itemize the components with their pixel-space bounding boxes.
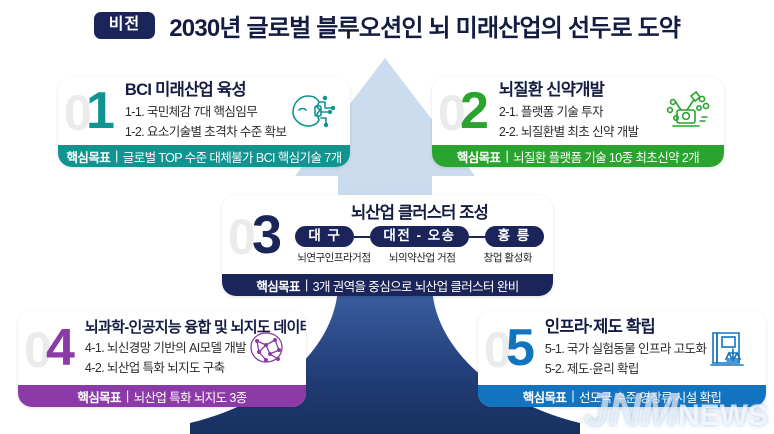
strategy-card-5[interactable]: 0 5 인프라·제도 확립 5-1. 국가 실험동물 인프라 고도화 5-2. … (478, 311, 766, 407)
goal-label: 핵심목표 (77, 387, 121, 406)
card-body: 0 1 BCI 미래산업 육성 1-1. 국민체감 7대 핵심임무 1-2. 요… (58, 77, 350, 145)
pill-connector-2 (469, 236, 485, 238)
card-number-4: 4 (46, 322, 75, 374)
strategy-card-1[interactable]: 0 1 BCI 미래산업 육성 1-1. 국민체감 7대 핵심임무 1-2. 요… (58, 77, 350, 167)
card-body: 0 3 뇌산업 클러스터 조성 대 구 대전 - 오송 홍 릉 뇌연구인프라거점… (222, 195, 553, 274)
pill-daegu[interactable]: 대 구 (295, 226, 354, 248)
goal-sep: | (115, 149, 118, 163)
card-item-4-1: 4-1. 뇌신경망 기반의 AI모델 개발 (85, 339, 236, 357)
card-body: 0 5 인프라·제도 확립 5-1. 국가 실험동물 인프라 고도화 5-2. … (478, 311, 766, 385)
neural-network-brain-icon (240, 323, 298, 373)
card-title-5: 인프라·제도 확립 (545, 318, 696, 338)
card-footer-1: 핵심목표|글로벌 TOP 수준 대체불가 BCI 핵심기술 7개 (58, 145, 350, 167)
page-title: 2030년 글로벌 블루오션인 뇌 미래산업의 선두로 도약 (169, 8, 680, 43)
card-title-3: 뇌산업 클러스터 조성 (294, 204, 545, 222)
card-item-2-1: 2-1. 플랫폼 기술 투자 (499, 103, 654, 121)
law-book-scale-icon (700, 323, 758, 373)
vision-badge: 비전 (94, 12, 155, 39)
pill-connector-1 (354, 236, 370, 238)
card-text: 인프라·제도 확립 5-1. 국가 실험동물 인프라 고도화 5-2. 제도·윤… (545, 318, 696, 378)
pill-daejeon-osong[interactable]: 대전 - 오송 (370, 226, 468, 248)
goal-sep: | (571, 389, 574, 403)
card-item-5-1: 5-1. 국가 실험동물 인프라 고도화 (545, 340, 696, 358)
card-footer-text-3: 3개 권역을 중심으로 뇌산업 클러스터 완비 (313, 276, 519, 295)
card-item-5-2: 5-2. 제도·윤리 확립 (545, 360, 696, 378)
pill-caption-daejeon-osong: 뇌의약산업 거점 (374, 250, 471, 265)
cluster-captions: 뇌연구인프라거점 뇌의약산업 거점 창업 활성화 (294, 250, 545, 265)
card-item-1-2: 1-2. 요소기술별 초격차 수준 확보 (125, 123, 280, 141)
strategy-card-3[interactable]: 0 3 뇌산업 클러스터 조성 대 구 대전 - 오송 홍 릉 뇌연구인프라거점… (222, 195, 553, 296)
brain-circuit-icon (284, 86, 342, 136)
card-body: 0 2 뇌질환 신약개발 2-1. 플랫폼 기술 투자 2-2. 뇌질환별 최초… (432, 77, 724, 145)
card-footer-5: 핵심목표|선도국 수준 영장류 시설 확립 (478, 385, 766, 407)
card-number-3: 3 (252, 208, 282, 262)
card-item-1-1: 1-1. 국민체감 7대 핵심임무 (125, 103, 280, 121)
card-title-1: BCI 미래산업 육성 (125, 81, 280, 101)
card-text: 뇌질환 신약개발 2-1. 플랫폼 기술 투자 2-2. 뇌질환별 최초 신약 … (499, 81, 654, 141)
goal-sep: | (126, 389, 129, 403)
card-footer-text-1: 글로벌 TOP 수준 대체불가 BCI 핵심기술 7개 (123, 147, 342, 166)
cluster-pill-row: 대 구 대전 - 오송 홍 릉 (294, 226, 545, 248)
card-body: 0 4 뇌과학-인공지능 융합 및 뇌지도 데이터 4-1. 뇌신경망 기반의 … (18, 311, 306, 385)
goal-label: 핵심목표 (256, 276, 300, 295)
card-number-2: 2 (460, 85, 489, 137)
card-footer-text-2: 뇌질환 플랫폼 기술 10종 최초신약 2개 (513, 147, 699, 166)
goal-sep: | (505, 149, 508, 163)
card-item-4-2: 4-2. 뇌산업 특화 뇌지도 구축 (85, 359, 236, 377)
card-footer-4: 핵심목표|뇌산업 특화 뇌지도 3종 (18, 385, 306, 407)
goal-label: 핵심목표 (457, 147, 501, 166)
card-footer-3: 핵심목표|3개 권역을 중심으로 뇌산업 클러스터 완비 (222, 274, 553, 296)
card-footer-2: 핵심목표|뇌질환 플랫폼 기술 10종 최초신약 2개 (432, 145, 724, 167)
strategy-card-4[interactable]: 0 4 뇌과학-인공지능 융합 및 뇌지도 데이터 4-1. 뇌신경망 기반의 … (18, 311, 306, 407)
goal-label: 핵심목표 (523, 387, 567, 406)
card-text: 뇌산업 클러스터 조성 대 구 대전 - 오송 홍 릉 뇌연구인프라거점 뇌의약… (294, 204, 545, 266)
pill-hongneung[interactable]: 홍 릉 (485, 226, 544, 248)
strategy-card-2[interactable]: 0 2 뇌질환 신약개발 2-1. 플랫폼 기술 투자 2-2. 뇌질환별 최초… (432, 77, 724, 167)
microscope-molecule-icon (658, 86, 716, 136)
card-number-5: 5 (506, 322, 535, 374)
card-text: 뇌과학-인공지능 융합 및 뇌지도 데이터 4-1. 뇌신경망 기반의 AI모델… (85, 319, 236, 377)
pill-caption-daegu: 뇌연구인프라거점 (294, 250, 374, 265)
card-number-1: 1 (86, 85, 115, 137)
infographic-canvas: 비전 2030년 글로벌 블루오션인 뇌 미래산업의 선두로 도약 0 1 BC… (0, 0, 774, 434)
card-text: BCI 미래산업 육성 1-1. 국민체감 7대 핵심임무 1-2. 요소기술별… (125, 81, 280, 141)
card-footer-text-5: 선도국 수준 영장류 시설 확립 (579, 387, 721, 406)
card-footer-text-4: 뇌산업 특화 뇌지도 3종 (134, 387, 247, 406)
pill-caption-hongneung: 창업 활성화 (471, 250, 545, 265)
vision-header: 비전 2030년 글로벌 블루오션인 뇌 미래산업의 선두로 도약 (0, 8, 774, 43)
card-title-2: 뇌질환 신약개발 (499, 81, 654, 101)
goal-sep: | (305, 278, 308, 292)
card-title-4: 뇌과학-인공지능 융합 및 뇌지도 데이터 (85, 319, 236, 337)
card-item-2-2: 2-2. 뇌질환별 최초 신약 개발 (499, 123, 654, 141)
goal-label: 핵심목표 (67, 147, 111, 166)
